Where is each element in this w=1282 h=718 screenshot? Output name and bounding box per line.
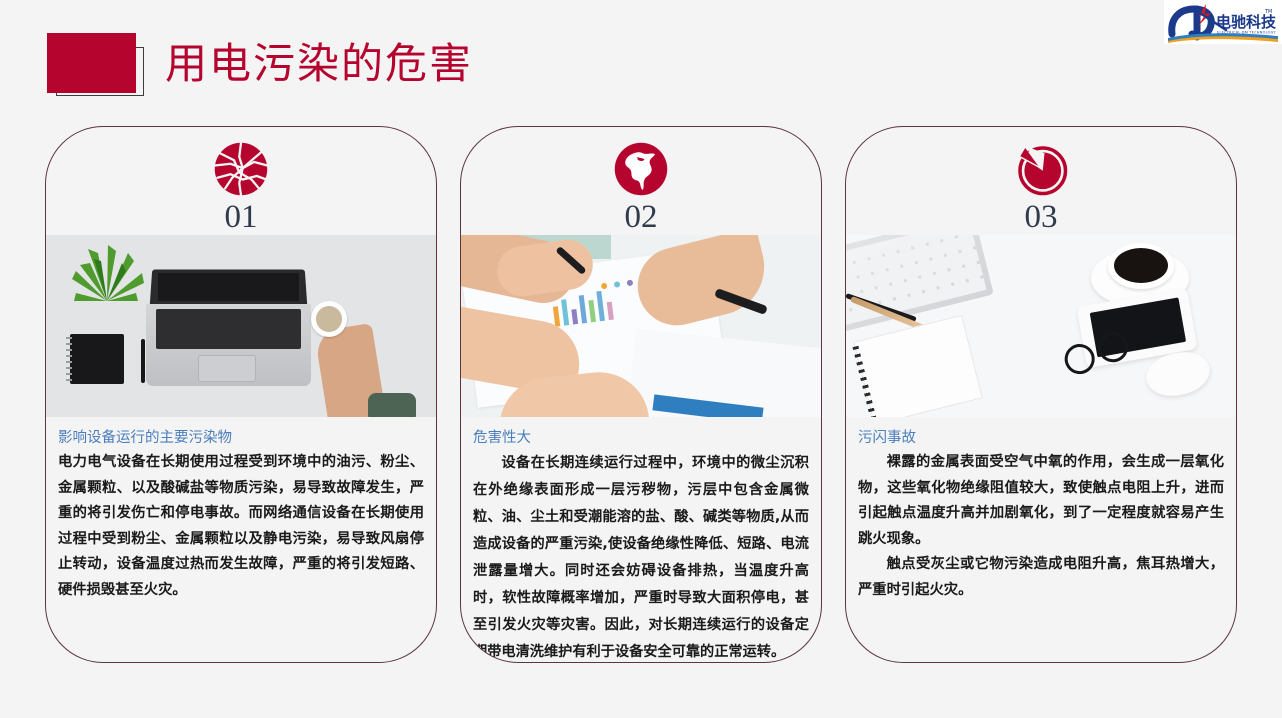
- white-desk-phone-coffee-photo: [846, 235, 1236, 417]
- coffee-cup: [311, 301, 347, 337]
- card-02-head: 02: [461, 127, 821, 235]
- card-02-number: 02: [625, 199, 658, 235]
- plant-graphic: [68, 245, 146, 303]
- card-01-body: 影响设备运行的主要污染物 电力电气设备在长期使用过程受到环境中的油污、粉尘、金属…: [46, 417, 436, 603]
- page-title: 用电污染的危害: [165, 36, 473, 92]
- laptop-keyboard: [156, 309, 301, 349]
- laptop-trackpad: [198, 355, 256, 382]
- card-01[interactable]: 01: [45, 126, 437, 663]
- card-03-subtitle: 污闪事故: [858, 427, 1224, 449]
- laptop-screen: [158, 273, 299, 301]
- slide-header: 用电污染的危害: [0, 0, 1282, 120]
- desk-laptop-coffee-photo: [46, 235, 436, 417]
- card-03-body: 污闪事故 裸露的金属表面受空气中氧的作用，会生成一层氧化物，这些氧化物绝缘阻值较…: [846, 417, 1236, 603]
- coffee-cup: [1108, 243, 1174, 289]
- card-03-paragraph-2: 触点受灰尘或它物污染造成电阻升高，焦耳热增大，严重时引起火灾。: [858, 552, 1224, 603]
- cards-row: 01: [0, 126, 1282, 666]
- spiral-notepad: [853, 315, 982, 417]
- card-02-paragraph: 设备在长期连续运行过程中，环境中的微尘沉积在外绝缘表面形成一层污秽物，污层中包含…: [473, 450, 809, 663]
- card-01-number: 01: [225, 199, 258, 235]
- pen: [141, 339, 145, 383]
- card-01-subtitle: 影响设备运行的主要污染物: [58, 427, 424, 449]
- title-square-decoration: [47, 33, 136, 93]
- card-03-paragraph-1: 裸露的金属表面受空气中氧的作用，会生成一层氧化物，这些氧化物绝缘阻值较大，致使触…: [858, 450, 1224, 552]
- team-reviewing-charts-photo: [461, 235, 821, 417]
- card-02-subtitle: 危害性大: [473, 427, 809, 449]
- card-03-head: 03: [846, 127, 1236, 235]
- card-02[interactable]: 02: [460, 126, 822, 663]
- sleeve: [368, 393, 416, 417]
- keyboard: [846, 235, 994, 333]
- card-01-paragraph: 电力电气设备在长期使用过程受到环境中的油污、粉尘、金属颗粒、以及酸碱盐等物质污染…: [58, 450, 424, 603]
- pie-chart-exploded-icon: [1010, 141, 1072, 197]
- cracked-globe-icon: [210, 141, 272, 197]
- globe-americas-icon: [610, 141, 672, 197]
- card-01-head: 01: [46, 127, 436, 235]
- card-03[interactable]: 03 污闪事故 裸露的金属表面受空气中氧的作用，会生成一层氧化物，这些氧化物绝缘…: [845, 126, 1237, 663]
- card-02-body: 危害性大 设备在长期连续运行过程中，环境中的微尘沉积在外绝缘表面形成一层污秽物，…: [461, 417, 821, 663]
- black-notebook: [70, 334, 124, 384]
- card-03-number: 03: [1025, 199, 1058, 235]
